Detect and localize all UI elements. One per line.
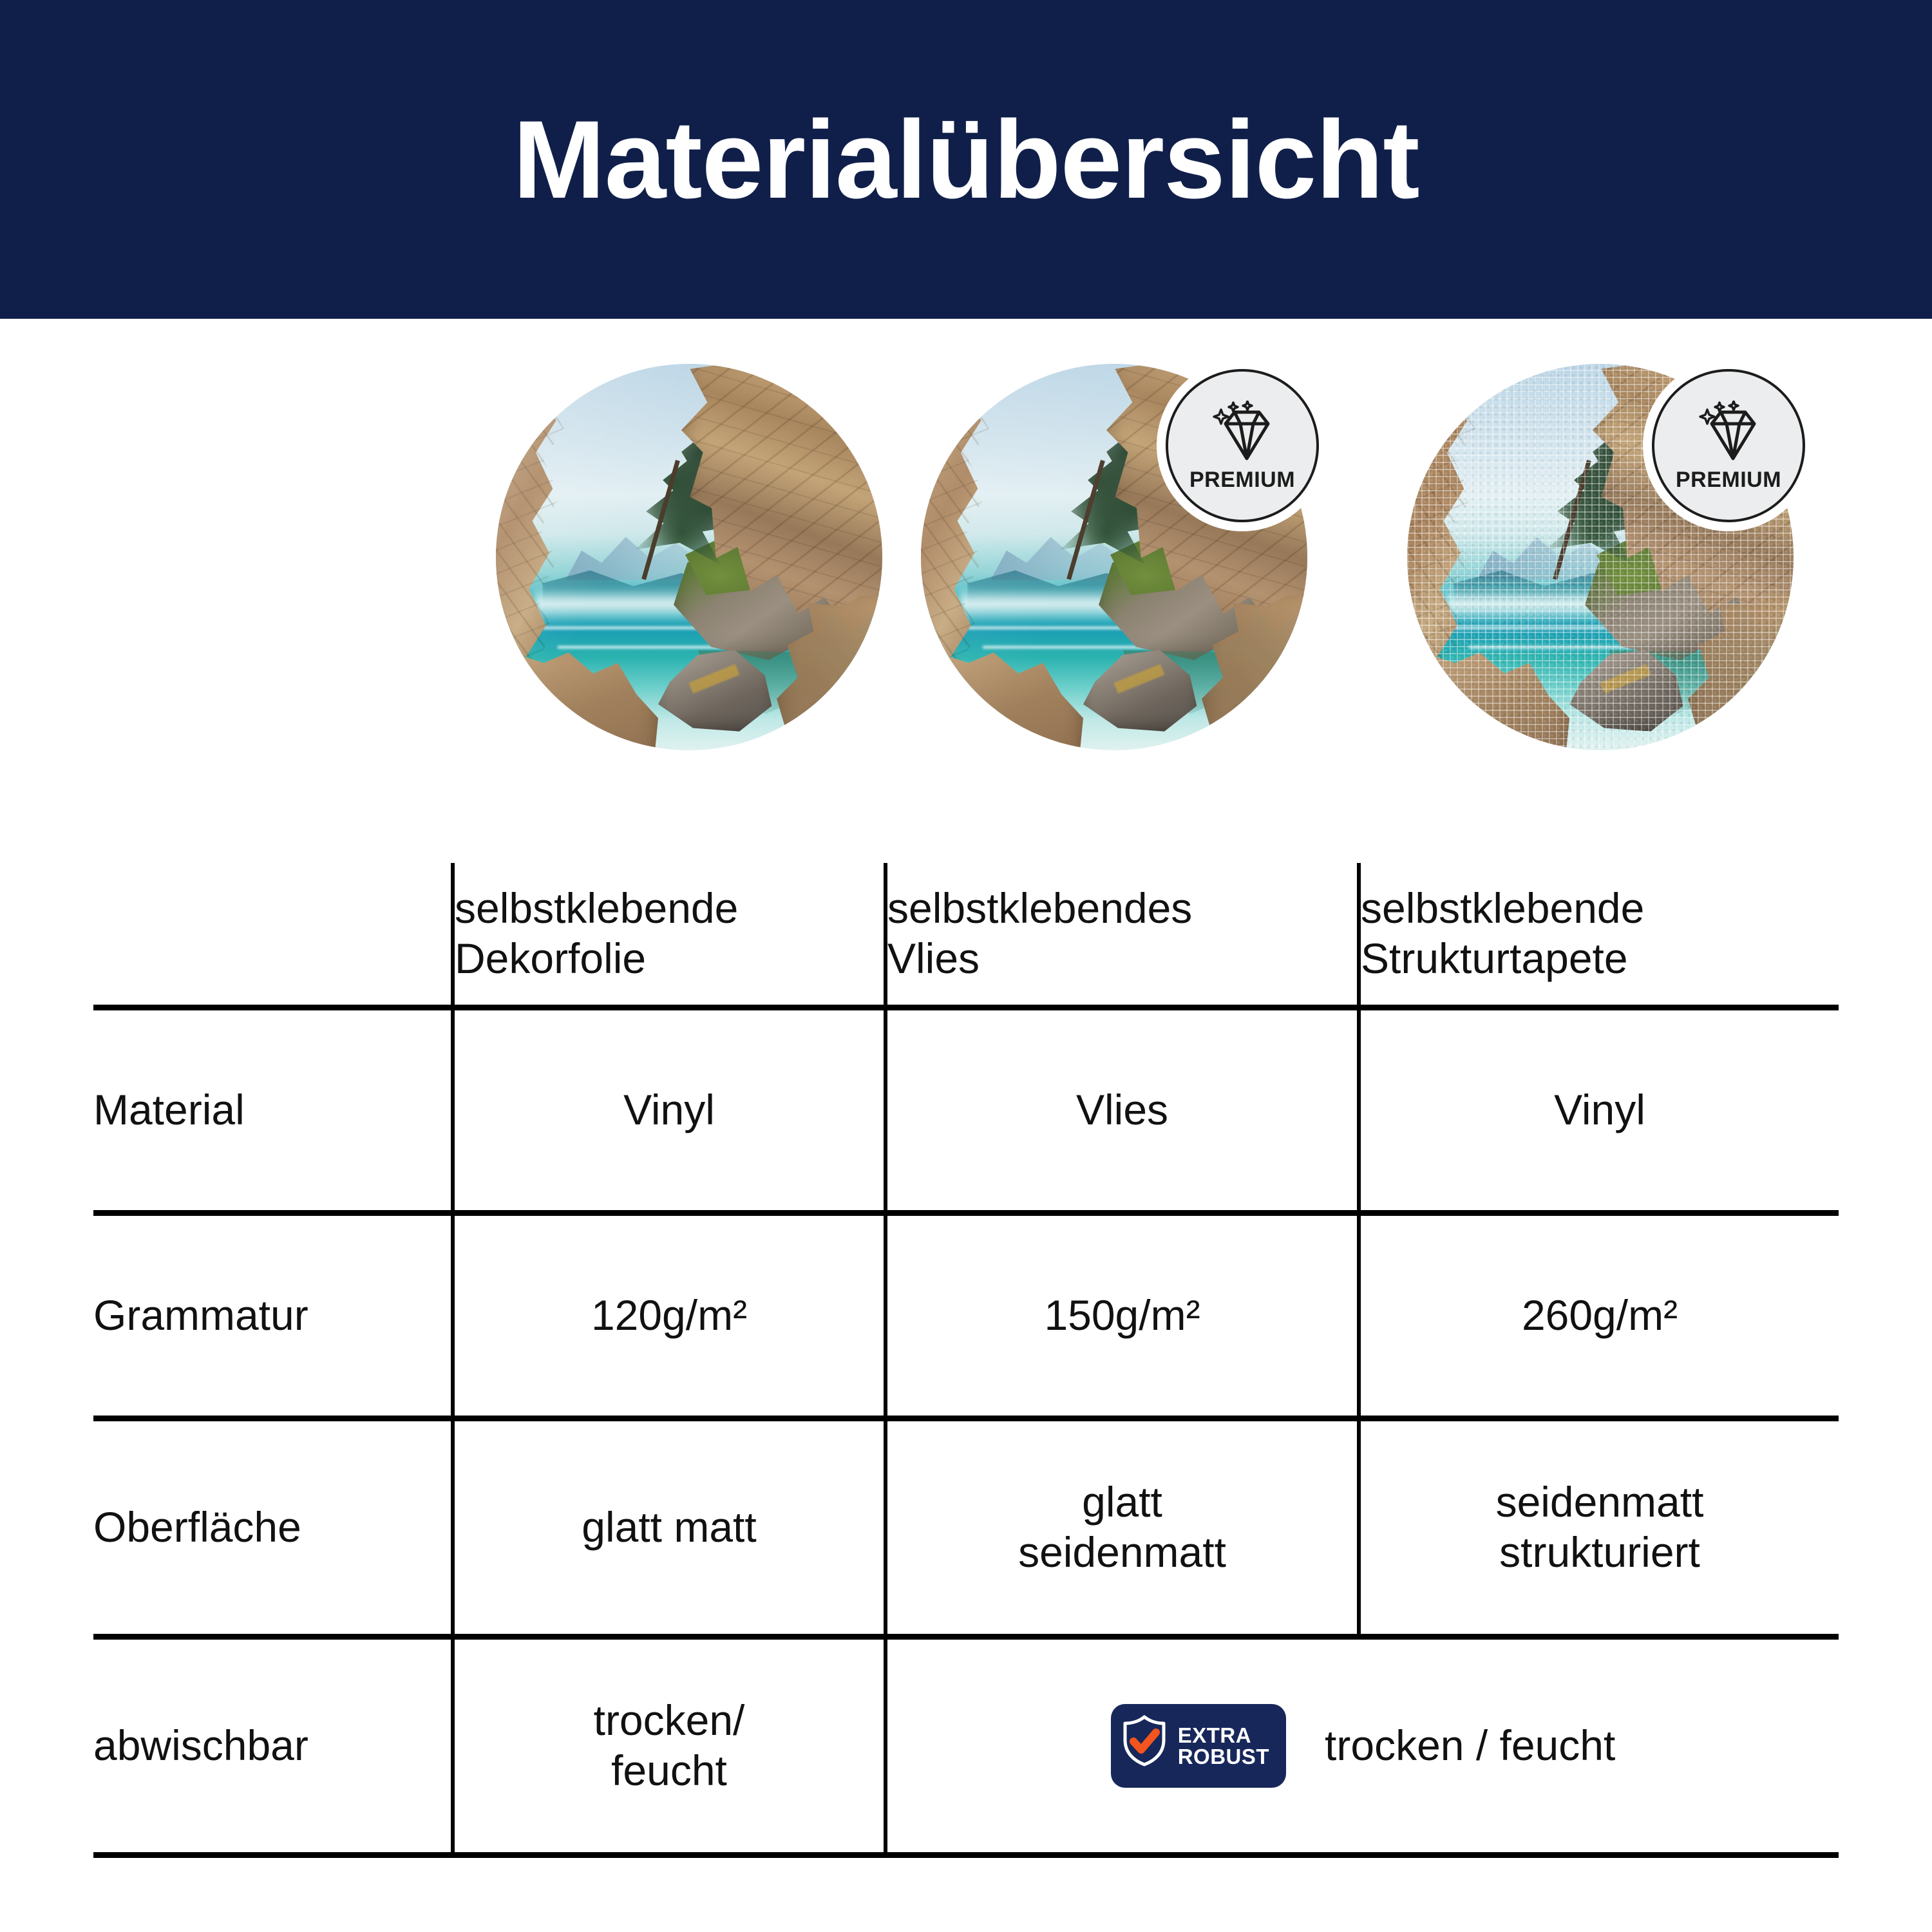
premium-badge: PREMIUM [1652,369,1805,522]
cell-abwischbar-dekorfolie: trocken/ feucht [453,1637,885,1855]
table-bottom-rule-row [93,1855,1839,1859]
cell-line-1: seidenmatt [1361,1477,1839,1528]
table-header-row: selbstklebende Dekorfolie selbstklebende… [93,863,1839,1008]
header-cell-dekorfolie: selbstklebende Dekorfolie [453,863,885,1008]
row-label-grammatur: Grammatur [93,1213,453,1419]
cell-oberflaeche-strukturtapete: seidenmatt strukturiert [1359,1419,1839,1637]
extra-robust-badge: EXTRA ROBUST [1111,1704,1286,1788]
table-bottom-rule [1359,1855,1839,1859]
header-line-2: Dekorfolie [455,934,884,984]
premium-badge-label: PREMIUM [1189,469,1295,491]
table-bottom-rule [93,1855,453,1859]
robust-badge-line-1: EXTRA [1178,1725,1269,1746]
cell-line-1: glatt matt [455,1502,884,1553]
diamond-icon [1692,401,1765,468]
row-label-abwischbar: abwischbar [93,1637,453,1855]
table-row: Oberfläche glatt matt glatt seidenmatt s… [93,1419,1839,1637]
row-label-oberflaeche: Oberfläche [93,1419,453,1637]
cell-grammatur-vlies: 150g/m² [885,1213,1359,1419]
cell-grammatur-dekorfolie: 120g/m² [453,1213,885,1419]
shield-check-icon [1121,1714,1168,1778]
header-line-1: selbstklebende [455,884,884,934]
table-row: Material Vinyl Vlies Vinyl [93,1008,1839,1213]
header-line-1: selbstklebendes [887,884,1357,934]
cell-oberflaeche-dekorfolie: glatt matt [453,1419,885,1637]
cell-grammatur-strukturtapete: 260g/m² [1359,1213,1839,1419]
row-label-material: Material [93,1008,453,1213]
table-row: abwischbar trocken/ feucht EXTRA ROBUST [93,1637,1839,1855]
landscape-scene [496,364,882,750]
cell-line-1: glatt [887,1477,1357,1528]
header-banner: Materialübersicht [0,0,1932,319]
premium-badge: PREMIUM [1166,369,1319,522]
header-cell-vlies: selbstklebendes Vlies [885,863,1359,1008]
cell-oberflaeche-vlies: glatt seidenmatt [885,1419,1359,1637]
cell-line-2: seidenmatt [887,1528,1357,1578]
table-bottom-rule [885,1855,1359,1859]
material-swatch-row: PREMIUM [0,364,1932,763]
cell-material-dekorfolie: Vinyl [453,1008,885,1213]
cell-material-vlies: Vlies [885,1008,1359,1213]
material-comparison-table: selbstklebende Dekorfolie selbstklebende… [93,863,1839,1858]
header-cell-strukturtapete: selbstklebende Strukturtapete [1359,863,1839,1008]
cell-line-1: trocken/ [455,1696,884,1746]
header-line-2: Vlies [887,934,1357,984]
header-line-2: Strukturtapete [1361,934,1839,984]
header-line-1: selbstklebende [1361,884,1839,934]
cell-line-2: feucht [455,1746,884,1796]
swatch-dekorfolie[interactable] [496,364,882,750]
cell-abwischbar-merged-text: trocken / feucht [1325,1721,1615,1771]
cell-material-strukturtapete: Vinyl [1359,1008,1839,1213]
table-row: Grammatur 120g/m² 150g/m² 260g/m² [93,1213,1839,1419]
swatch-vlies[interactable]: PREMIUM [921,364,1307,750]
premium-badge-label: PREMIUM [1676,469,1781,491]
header-cell-empty [93,863,453,1008]
swatch-image-dekorfolie [496,364,882,750]
table-bottom-rule [453,1855,885,1859]
swatch-strukturtapete[interactable]: PREMIUM [1407,364,1794,750]
page-title: Materialübersicht [513,104,1419,215]
robust-badge-line-2: ROBUST [1178,1746,1269,1767]
cell-abwischbar-merged: EXTRA ROBUST trocken / feucht [885,1637,1839,1855]
diamond-icon [1206,401,1278,468]
cell-line-2: strukturiert [1361,1528,1839,1578]
